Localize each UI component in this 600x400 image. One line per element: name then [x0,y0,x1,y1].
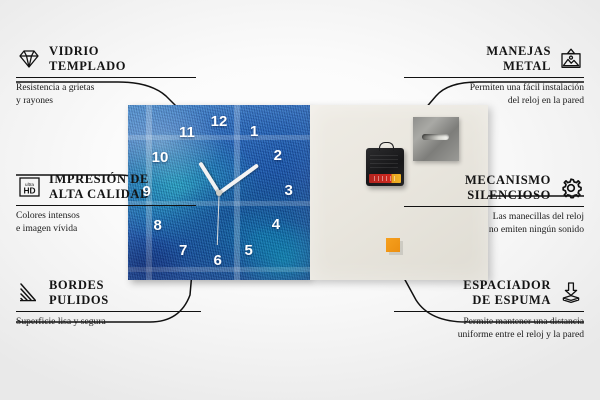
clock-numeral-12: 12 [211,114,228,129]
feature-vidrio-templado: VIDRIO TEMPLADO Resistencia a grietas y … [16,44,196,107]
feature-title-line1: BORDES [49,278,109,293]
feature-desc-line1: Las manecillas del reloj [404,211,584,224]
clock-numeral-8: 8 [153,218,161,233]
metal-hanger-plate [413,117,459,161]
feature-desc-line1: Permite mantener una distancia [394,316,584,329]
feature-title-line1: VIDRIO [49,44,126,59]
feature-header: VIDRIO TEMPLADO [16,44,196,74]
infographic-stage: 12 1 2 3 4 5 6 7 8 9 10 11 [0,0,600,400]
feature-desc-line2: del reloj en la pared [404,95,584,108]
feature-title-line2: DE ESPUMA [463,293,551,308]
feature-desc-line1: Permiten una fácil instalación [404,82,584,95]
gear-icon [558,176,584,200]
polished-edge-icon [16,281,42,305]
feature-header: MANEJAS METAL [404,44,584,74]
feature-desc-line2: e imagen vívida [16,223,196,236]
clock-numeral-6: 6 [214,253,222,268]
clock-minute-hand [218,163,259,194]
clock-numeral-11: 11 [179,125,195,140]
feature-espaciador-espuma: ESPACIADOR DE ESPUMA Permite mantener un… [394,278,584,341]
feature-divider [16,205,196,207]
feature-header: ultra HD IMPRESIÓN DE ALTA CALIDAD [16,172,196,202]
clock-numeral-3: 3 [285,183,293,198]
feature-header: ESPACIADOR DE ESPUMA [394,278,584,308]
feature-desc-line1: Resistencia a grietas [16,82,196,95]
feature-title-line1: ESPACIADOR [463,278,551,293]
feature-desc-line2: no emiten ningún sonido [404,224,584,237]
feature-divider [16,311,201,313]
mechanism-hook [379,142,394,151]
mechanism-detail [370,155,398,168]
clock-numeral-5: 5 [244,243,252,258]
clock-numeral-9: 9 [143,184,151,199]
svg-text:HD: HD [23,185,35,195]
feature-divider [16,77,196,79]
feature-desc-line2: uniforme entre el reloj y la pared [394,329,584,342]
feature-divider [404,206,584,208]
feature-header: MECANISMO SILENCIOSO [404,173,584,203]
feature-divider [404,77,584,79]
feature-title-line1: MECANISMO [465,173,551,188]
feature-mecanismo-silencioso: MECANISMO SILENCIOSO Las manecillas del … [404,173,584,236]
clock-numeral-7: 7 [179,243,187,258]
clock-numeral-2: 2 [274,148,282,163]
foam-spacer [386,238,400,252]
feature-title-line1: IMPRESIÓN DE [49,172,150,187]
clock-numeral-4: 4 [272,217,280,232]
mechanism-battery [369,174,401,183]
feature-desc-line1: Colores intensos [16,210,196,223]
feature-title-line2: TEMPLADO [49,59,126,74]
feature-impresion-alta-calidad: ultra HD IMPRESIÓN DE ALTA CALIDAD Color… [16,172,196,235]
clock-mechanism [366,148,404,186]
clock-hour-hand [198,161,220,194]
feature-title-line2: PULIDOS [49,293,109,308]
diamond-icon [16,47,42,71]
feature-divider [394,311,584,313]
foam-spacer-icon [558,281,584,305]
feature-desc-line1: Superficie lisa y segura [16,316,201,329]
clock-numeral-10: 10 [152,150,169,165]
feature-bordes-pulidos: BORDES PULIDOS Superficie lisa y segura [16,278,201,329]
hanger-slot [422,134,449,140]
feature-desc-line2: y rayones [16,95,196,108]
clock-numeral-1: 1 [250,124,258,139]
feature-manejas-metal: MANEJAS METAL Permiten una fácil instala… [404,44,584,107]
framed-picture-icon [558,47,584,71]
feature-title-line2: SILENCIOSO [465,188,551,203]
clock-second-hand [216,192,219,244]
feature-title-line1: MANEJAS [486,44,551,59]
feature-title-line2: METAL [486,59,551,74]
feature-header: BORDES PULIDOS [16,278,201,308]
ultra-hd-icon: ultra HD [16,175,42,199]
feature-title-line2: ALTA CALIDAD [49,187,150,202]
clock-center-pin [216,190,222,196]
